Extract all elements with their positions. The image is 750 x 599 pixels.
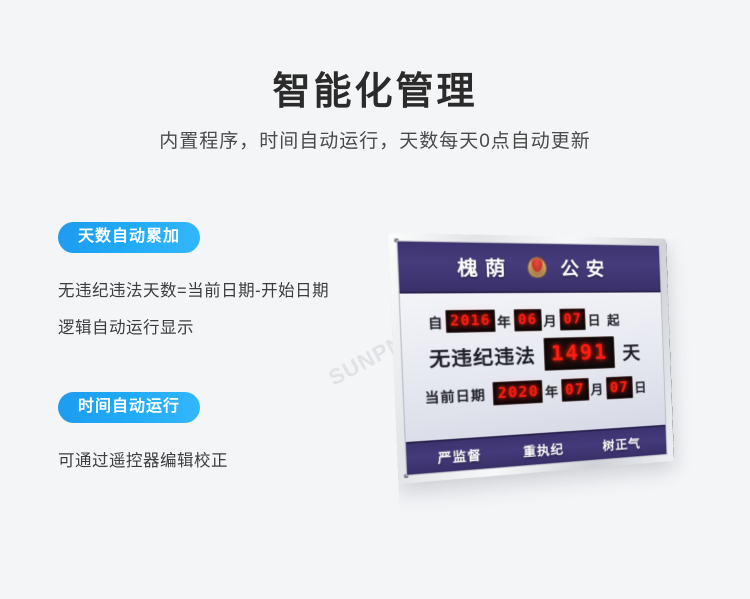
current-day-unit: 日 bbox=[634, 377, 648, 396]
feature-block-days: 天数自动累加 无违纪违法天数=当前日期-开始日期 逻辑自动运行显示 bbox=[58, 222, 329, 351]
board-header: 槐荫 公安 bbox=[398, 241, 661, 293]
counter-unit: 天 bbox=[622, 338, 642, 364]
current-date-row: 当前日期 2020 年 07 月 07 日 bbox=[403, 375, 664, 411]
start-day-value: 07 bbox=[562, 310, 583, 328]
current-month-led: 07 bbox=[561, 378, 589, 402]
board-frame: 槐荫 公安 自 2016 年 06 月 07 bbox=[388, 233, 674, 484]
counter-row: 无违纪违法 1491 天 bbox=[402, 335, 664, 376]
feature-lines-time: 可通过遥控器编辑校正 bbox=[58, 447, 228, 471]
current-day-value: 07 bbox=[608, 378, 630, 397]
start-month-led: 06 bbox=[513, 309, 541, 332]
led-display-board: 槐荫 公安 自 2016 年 06 月 07 bbox=[392, 218, 722, 518]
start-month-unit: 月 bbox=[543, 310, 558, 329]
screw-icon bbox=[404, 474, 409, 479]
counter-value: 1491 bbox=[548, 339, 610, 367]
feature-block-time: 时间自动运行 可通过遥控器编辑校正 bbox=[58, 392, 228, 484]
current-year-led: 2020 bbox=[493, 380, 544, 406]
board-footer-slogan: 重执纪 bbox=[523, 438, 565, 460]
page-subtitle: 内置程序，时间自动运行，天数每天0点自动更新 bbox=[0, 126, 750, 153]
start-day-unit: 日 bbox=[587, 310, 601, 329]
current-year-value: 2020 bbox=[496, 382, 540, 403]
start-day-led: 07 bbox=[559, 308, 586, 330]
board-footer: 严监督 重执纪 树正气 bbox=[406, 425, 667, 475]
badge-time-auto-run: 时间自动运行 bbox=[58, 392, 200, 423]
board-footer-slogan: 严监督 bbox=[437, 444, 482, 467]
screw-icon bbox=[394, 238, 399, 242]
start-date-row: 自 2016 年 06 月 07 日 起 bbox=[400, 308, 661, 334]
start-suffix-label: 起 bbox=[607, 309, 621, 328]
feature-line: 逻辑自动运行显示 bbox=[58, 314, 329, 338]
start-year-unit: 年 bbox=[497, 311, 512, 331]
board-screen: 槐荫 公安 自 2016 年 06 月 07 bbox=[396, 240, 667, 476]
counter-label: 无违纪违法 bbox=[429, 341, 537, 372]
current-month-value: 07 bbox=[564, 380, 586, 400]
current-date-label: 当前日期 bbox=[424, 384, 486, 407]
current-day-led: 07 bbox=[606, 376, 633, 399]
feature-line: 无违纪违法天数=当前日期-开始日期 bbox=[58, 277, 329, 301]
current-year-unit: 年 bbox=[545, 381, 560, 401]
start-prefix-label: 自 bbox=[428, 312, 444, 332]
page-title: 智能化管理 bbox=[0, 60, 750, 115]
start-year-value: 2016 bbox=[449, 312, 493, 331]
counter-led: 1491 bbox=[543, 336, 615, 371]
board-header-right-text: 公安 bbox=[560, 254, 612, 281]
start-month-value: 06 bbox=[517, 311, 539, 329]
board-header-left-text: 槐荫 bbox=[457, 253, 513, 281]
board-footer-slogan: 树正气 bbox=[602, 433, 641, 454]
board-main-area: 自 2016 年 06 月 07 日 起 无违纪违法 1491 bbox=[400, 292, 666, 442]
police-emblem-icon bbox=[527, 257, 547, 278]
start-year-led: 2016 bbox=[445, 309, 495, 332]
feature-lines-days: 无违纪违法天数=当前日期-开始日期 逻辑自动运行显示 bbox=[58, 277, 329, 338]
feature-line: 可通过遥控器编辑校正 bbox=[58, 447, 228, 471]
current-month-unit: 月 bbox=[590, 379, 604, 398]
badge-days-auto-accumulate: 天数自动累加 bbox=[58, 222, 200, 253]
